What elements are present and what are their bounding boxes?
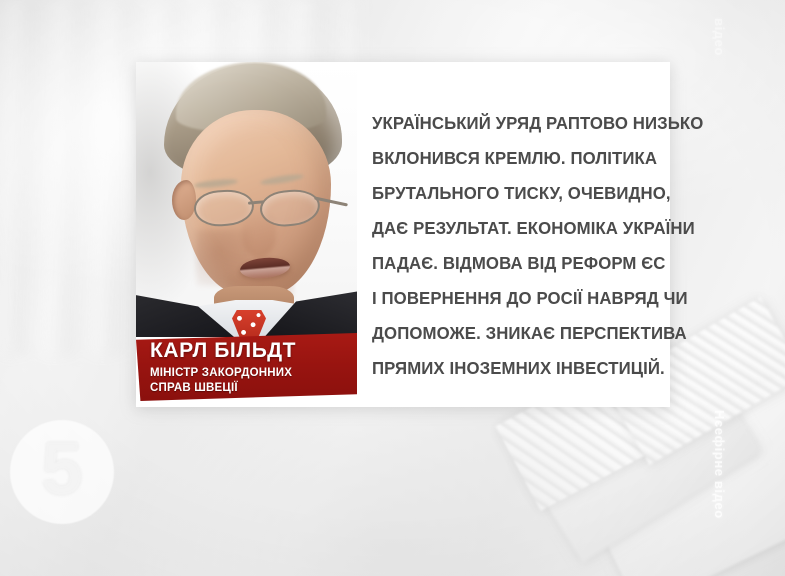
quote-line: ВКЛОНИВСЯ КРЕМЛЮ. ПОЛІТИКА [372,141,652,176]
quote-line: ПРЯМИХ ІНОЗЕМНИХ ІНВЕСТИЦІЙ. [372,351,652,386]
portrait-column: КАРЛ БІЛЬДТ МІНІСТР ЗАКОРДОННИХ СПРАВ ШВ… [136,62,357,407]
quote-card: КАРЛ БІЛЬДТ МІНІСТР ЗАКОРДОННИХ СПРАВ ШВ… [136,62,670,407]
quote-line: І ПОВЕРНЕННЯ ДО РОСІЇ НАВРЯД ЧИ [372,281,652,316]
channel-logo-digit: 5 [41,432,82,506]
watermark-bottom-right: Нєефірне відео [712,410,727,519]
quote-column: УКРАЇНСЬКИЙ УРЯД РАПТОВО НИЗЬКО ВКЛОНИВС… [372,62,670,407]
watermark-top-right: відео [712,18,727,56]
quote-line: БРУТАЛЬНОГО ТИСКУ, ОЧЕВИДНО, [372,176,652,211]
channel-logo-watermark: 5 [10,420,114,524]
nameplate-role-line: МІНІСТР ЗАКОРДОННИХ [150,366,347,381]
nameplate-person-role: МІНІСТР ЗАКОРДОННИХ СПРАВ ШВЕЦІЇ [150,366,347,395]
nameplate-person-name: КАРЛ БІЛЬДТ [150,340,347,361]
quote-line: ПАДАЄ. ВІДМОВА ВІД РЕФОРМ ЄС [372,246,652,281]
nameplate-content: КАРЛ БІЛЬДТ МІНІСТР ЗАКОРДОННИХ СПРАВ ШВ… [136,333,357,401]
quote-line: УКРАЇНСЬКИЙ УРЯД РАПТОВО НИЗЬКО [372,106,652,141]
quote-line: ДОПОМОЖЕ. ЗНИКАЄ ПЕРСПЕКТИВА [372,316,652,351]
broadcast-screen: КАРЛ БІЛЬДТ МІНІСТР ЗАКОРДОННИХ СПРАВ ШВ… [0,0,785,576]
portrait-photo [136,62,357,337]
quote-line: ДАЄ РЕЗУЛЬТАТ. ЕКОНОМІКА УКРАЇНИ [372,211,652,246]
nameplate-banner: КАРЛ БІЛЬДТ МІНІСТР ЗАКОРДОННИХ СПРАВ ШВ… [136,333,357,401]
portrait-nose [242,212,276,258]
nameplate-role-line: СПРАВ ШВЕЦІЇ [150,381,347,396]
